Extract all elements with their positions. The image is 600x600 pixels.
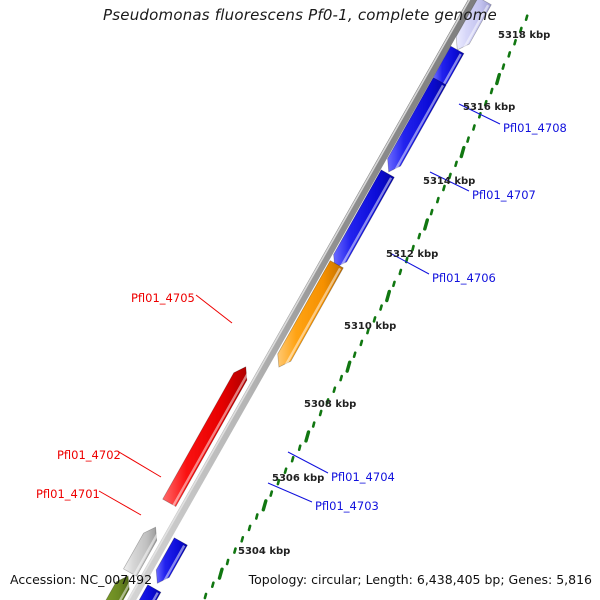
scale-tick [212, 583, 213, 587]
genome-diagram-canvas[interactable] [0, 0, 600, 600]
scale-tick [468, 138, 469, 142]
scale-tick [503, 65, 504, 69]
accession-status: Accession: NC_007492 [10, 572, 152, 587]
leader-line [196, 295, 232, 323]
gene-label-pfl01_4704[interactable]: Pfl01_4704 [331, 470, 395, 484]
scale-tick [473, 126, 474, 130]
scale-label: 5318 kbp [498, 30, 550, 41]
scale-tick [320, 411, 321, 415]
gene-label-pfl01_4701[interactable]: Pfl01_4701 [36, 487, 100, 501]
scale-tick [400, 270, 401, 274]
scale-label: 5316 kbp [463, 102, 515, 113]
scale-tick [334, 388, 335, 392]
gene-label-pfl01_4705[interactable]: Pfl01_4705 [131, 291, 195, 305]
gene-label-pfl01_4702[interactable]: Pfl01_4702 [57, 448, 121, 462]
scale-tick [249, 526, 250, 530]
scale-label: 5310 kbp [344, 321, 396, 332]
scale-tick [306, 432, 309, 441]
scale-tick [220, 569, 223, 578]
scale-tick [313, 423, 314, 427]
scale-tick [242, 537, 243, 541]
scale-tick [354, 353, 355, 357]
scale-tick [292, 457, 293, 461]
scale-tick [456, 162, 457, 166]
scale-tick [227, 560, 228, 564]
scale-label: 5306 kbp [272, 473, 324, 484]
scale-tick [491, 89, 492, 93]
leader-line [268, 483, 312, 502]
scale-tick [497, 75, 500, 84]
scale-tick [299, 446, 300, 450]
scale-label: 5308 kbp [304, 399, 356, 410]
gene-highlight [168, 368, 251, 516]
scale-tick [361, 341, 362, 345]
scale-tick [271, 492, 272, 496]
scale-tick [393, 282, 394, 286]
scale-tick [234, 549, 235, 553]
scale-tick [526, 16, 527, 20]
scale-tick [431, 210, 432, 214]
scale-label: 5312 kbp [386, 249, 438, 260]
scale-tick [419, 234, 420, 238]
scale-tick [263, 501, 266, 510]
scale-tick [256, 515, 257, 519]
scale-label: 5314 kbp [423, 176, 475, 187]
scale-tick [387, 292, 390, 301]
scale-tick [381, 306, 382, 310]
leader-line [99, 491, 141, 515]
gene-feature[interactable] [163, 367, 247, 507]
scale-tick [205, 594, 206, 598]
scale-tick [509, 52, 510, 56]
genome-map-viewer: Pseudomonas fluorescens Pf0-1, complete … [0, 0, 600, 600]
leader-line [119, 452, 161, 477]
scale-tick [341, 376, 342, 380]
gene-label-pfl01_4703[interactable]: Pfl01_4703 [315, 499, 379, 513]
gene-label-pfl01_4708[interactable]: Pfl01_4708 [503, 121, 567, 135]
gene-label-pfl01_4706[interactable]: Pfl01_4706 [432, 271, 496, 285]
gene-label-pfl01_4707[interactable]: Pfl01_4707 [472, 188, 536, 202]
scale-tick [425, 220, 428, 229]
genome-summary-status: Topology: circular; Length: 6,438,405 bp… [249, 572, 592, 587]
scale-tick [347, 362, 350, 371]
leader-line [288, 452, 328, 473]
scale-tick [437, 198, 438, 202]
gene-feature[interactable] [278, 261, 344, 368]
scale-label: 5304 kbp [238, 546, 290, 557]
scale-tick [461, 148, 464, 157]
